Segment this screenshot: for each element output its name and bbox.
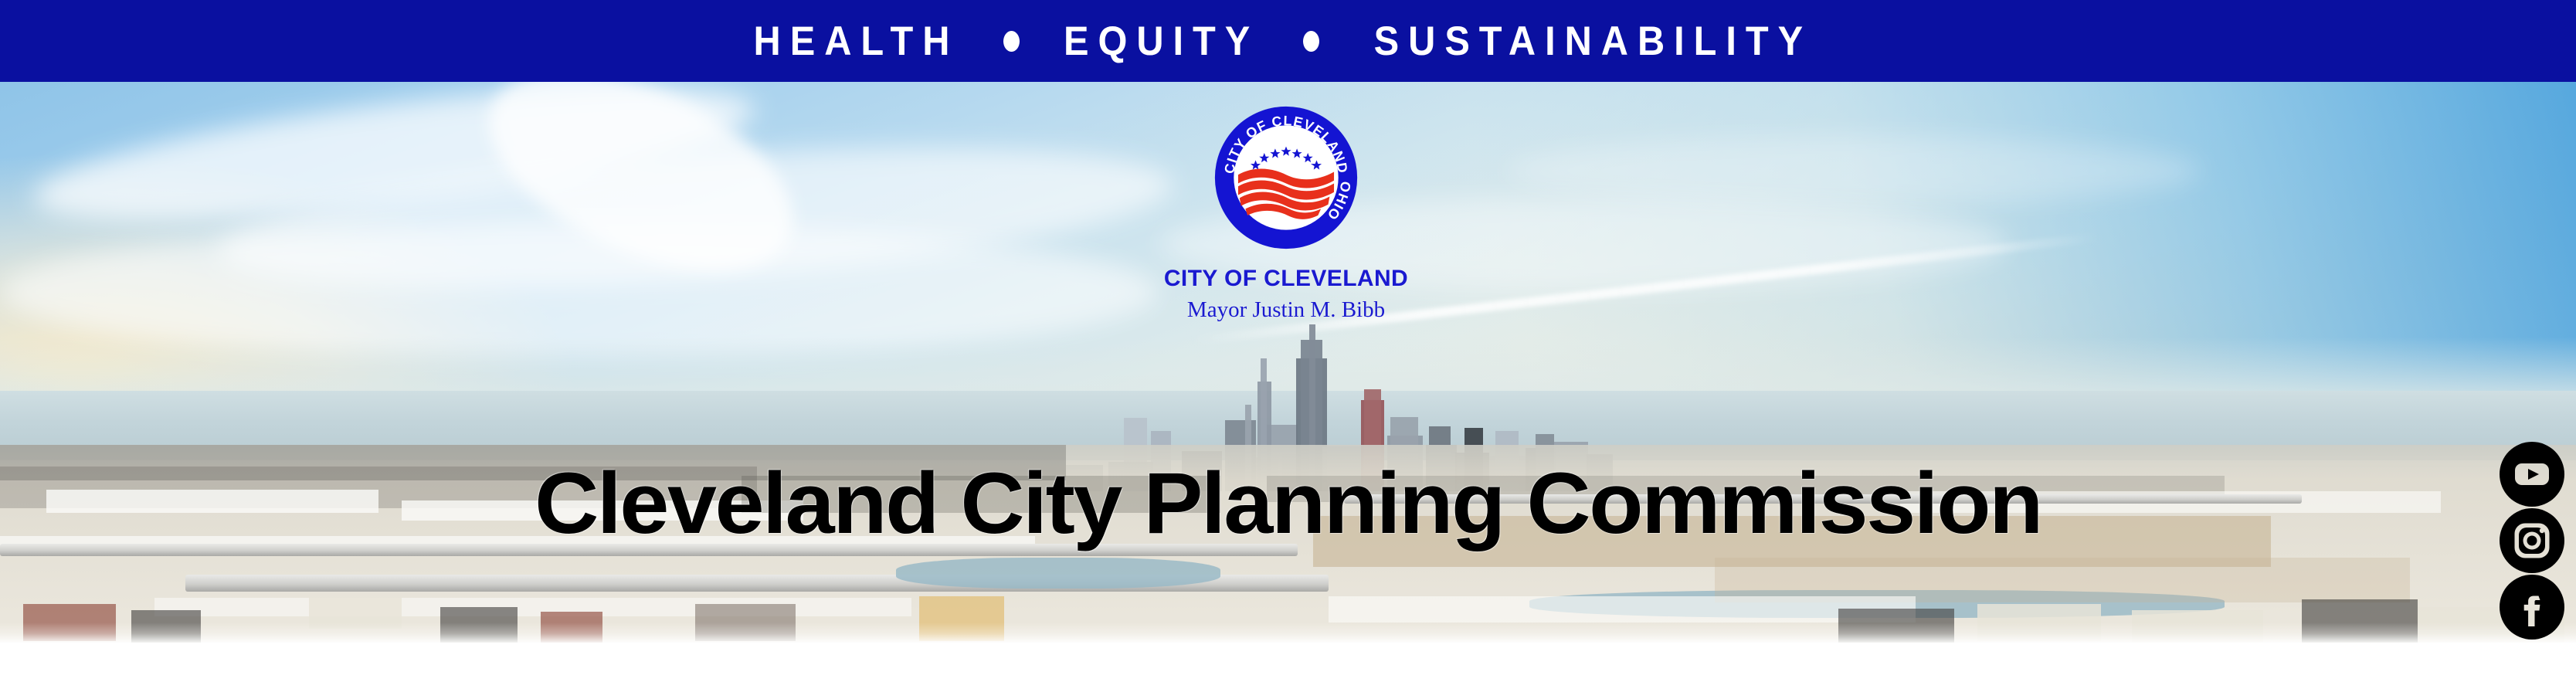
brand-block: CITY OF CLEVELAND OHIO CITY OF CLEVELAND… bbox=[1066, 105, 1506, 321]
city-of-cleveland-seal-icon: CITY OF CLEVELAND OHIO bbox=[1213, 105, 1359, 250]
bullet-dot-icon bbox=[1003, 31, 1020, 52]
tagline-bar: HEALTH EQUITY SUSTAINABILITY bbox=[0, 0, 2576, 82]
page-root: HEALTH EQUITY SUSTAINABILITY bbox=[0, 0, 2576, 682]
tagline-word-equity: EQUITY bbox=[1064, 21, 1259, 62]
instagram-icon[interactable] bbox=[2500, 508, 2564, 573]
page-title: Cleveland City Planning Commission bbox=[0, 460, 2576, 547]
footer-whitespace bbox=[0, 643, 2576, 682]
social-links bbox=[2497, 442, 2567, 641]
bullet-dot-icon bbox=[1303, 31, 1319, 52]
tagline-word-sustainability: SUSTAINABILITY bbox=[1374, 21, 1812, 62]
youtube-icon[interactable] bbox=[2500, 442, 2564, 507]
cloud bbox=[1506, 136, 2201, 205]
city-name-label: CITY OF CLEVELAND bbox=[1066, 267, 1506, 290]
mayor-name-label: Mayor Justin M. Bibb bbox=[1066, 299, 1506, 321]
photo-bottom-fade bbox=[0, 623, 2576, 643]
facebook-icon[interactable] bbox=[2500, 575, 2564, 640]
tagline-word-health: HEALTH bbox=[753, 21, 959, 62]
